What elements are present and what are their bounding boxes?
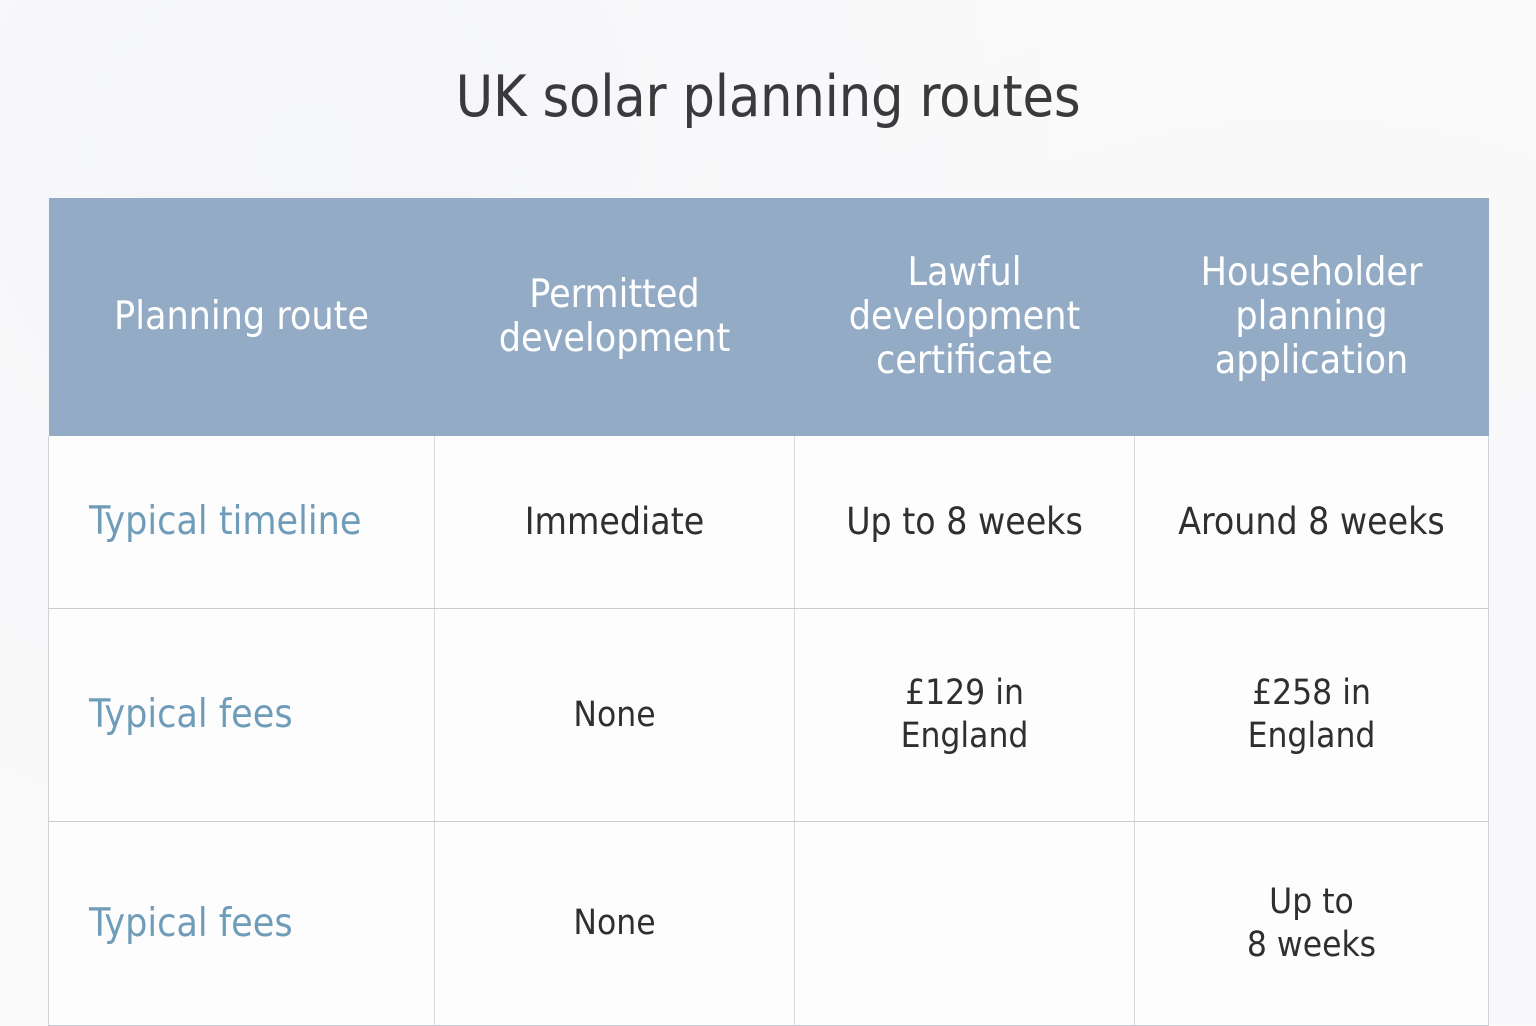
cell-timeline-permitted-development: Immediate [435, 436, 795, 609]
planning-routes-table-container: Planning route Permitted development Law… [48, 198, 1488, 965]
column-header-permitted-development: Permitted development [435, 198, 795, 436]
column-header-lawful-development-certificate: Lawful development certificate [795, 198, 1135, 436]
cell-line-1: Up to [1151, 881, 1472, 924]
header-line-2: development [499, 316, 731, 361]
cell-fees-permitted-development: None [435, 609, 795, 822]
cell-fees-secondary-permitted-development: None [435, 822, 795, 1026]
cell-fees-secondary-householder-planning-application: Up to 8 weeks [1135, 822, 1489, 1026]
cell-timeline-householder-planning-application: Around 8 weeks [1135, 436, 1489, 609]
row-label-typical-fees-secondary: Typical fees [49, 822, 435, 1026]
table-header: Planning route Permitted development Law… [49, 198, 1489, 436]
planning-routes-table: Planning route Permitted development Law… [48, 198, 1489, 1026]
cell-line-1: £258 in [1151, 672, 1472, 715]
table-row: Typical fees None £129 in England £258 i… [49, 609, 1489, 822]
column-header-householder-planning-application: Householder planning application [1135, 198, 1489, 436]
header-row: Planning route Permitted development Law… [49, 198, 1489, 436]
cell-line-1: £129 in [811, 672, 1118, 715]
header-line-1: Permitted [529, 272, 699, 317]
cell-timeline-lawful-development-certificate: Up to 8 weeks [795, 436, 1135, 609]
cell-line-2: 8 weeks [1151, 924, 1472, 967]
header-line-1: Householder [1201, 250, 1423, 295]
column-header-planning-route: Planning route [49, 198, 435, 436]
page-title: UK solar planning routes [0, 68, 1536, 128]
header-line-1: Lawful [907, 250, 1021, 295]
header-line-3: certificate [876, 338, 1053, 383]
table-body: Typical timeline Immediate Up to 8 weeks… [49, 436, 1489, 1026]
table-row: Typical fees None Up to 8 weeks [49, 822, 1489, 1026]
cell-fees-lawful-development-certificate: £129 in England [795, 609, 1135, 822]
row-label-typical-fees: Typical fees [49, 609, 435, 822]
cell-fees-householder-planning-application: £258 in England [1135, 609, 1489, 822]
table-row: Typical timeline Immediate Up to 8 weeks… [49, 436, 1489, 609]
header-line-2: planning [1235, 294, 1387, 339]
cell-line-2: England [1151, 715, 1472, 758]
header-line-2: development [849, 294, 1081, 339]
row-label-typical-timeline: Typical timeline [49, 436, 435, 609]
cell-fees-secondary-lawful-development-certificate [795, 822, 1135, 1026]
header-line-3: application [1215, 338, 1409, 383]
cell-line-2: England [811, 715, 1118, 758]
